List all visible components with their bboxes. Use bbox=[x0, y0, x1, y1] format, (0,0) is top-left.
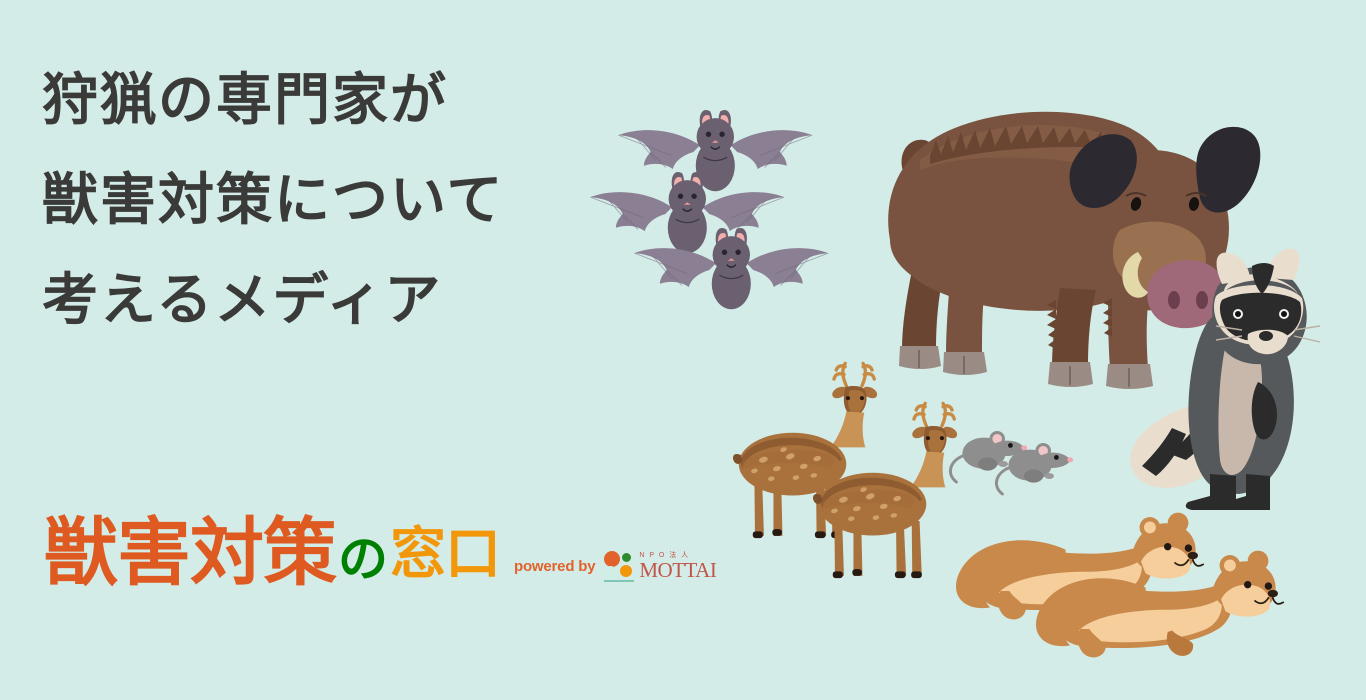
mouse-group bbox=[950, 431, 1073, 494]
npo-dot-green-icon bbox=[622, 553, 631, 562]
logo-word-madoguchi: 窓口 bbox=[390, 527, 500, 580]
headline-line-3: 考えるメディア bbox=[42, 272, 702, 328]
raccoon-group bbox=[1130, 249, 1320, 510]
powered-by-label: powered by bbox=[514, 558, 595, 575]
weasel-group bbox=[956, 513, 1283, 658]
deer-group bbox=[733, 363, 959, 578]
site-logo[interactable]: 獣害対策 の 窓口 powered by N P O 法 人 MOTTAI bbox=[44, 518, 716, 588]
headline-line-1: 狩猟の専門家が bbox=[42, 72, 702, 128]
npo-mottai-logo[interactable]: N P O 法 人 MOTTAI bbox=[604, 550, 716, 582]
boar-group bbox=[888, 112, 1260, 389]
npo-dot-orange-large-icon bbox=[604, 551, 620, 567]
npo-text-block: N P O 法 人 MOTTAI bbox=[639, 552, 716, 581]
npo-name-label: MOTTAI bbox=[639, 560, 716, 581]
headline-line-2: 獣害対策について bbox=[42, 172, 702, 228]
logo-word-jugai-taisaku: 獣害対策 bbox=[44, 518, 336, 588]
headline: 狩猟の専門家が 獣害対策について 考えるメディア bbox=[42, 72, 702, 328]
npo-dots-icon bbox=[604, 550, 634, 582]
npo-dot-mint-icon bbox=[604, 566, 617, 579]
npo-underline-icon bbox=[604, 580, 634, 582]
hero-banner: 狩猟の専門家が 獣害対策について 考えるメディア 獣害対策 の 窓口 power… bbox=[0, 0, 1366, 700]
logo-wordmark: 獣害対策 の 窓口 bbox=[44, 518, 500, 588]
powered-by-block: powered by N P O 法 人 MOTTAI bbox=[514, 550, 716, 582]
npo-dot-orange-small-icon bbox=[620, 565, 632, 577]
logo-particle-no: の bbox=[338, 536, 387, 584]
